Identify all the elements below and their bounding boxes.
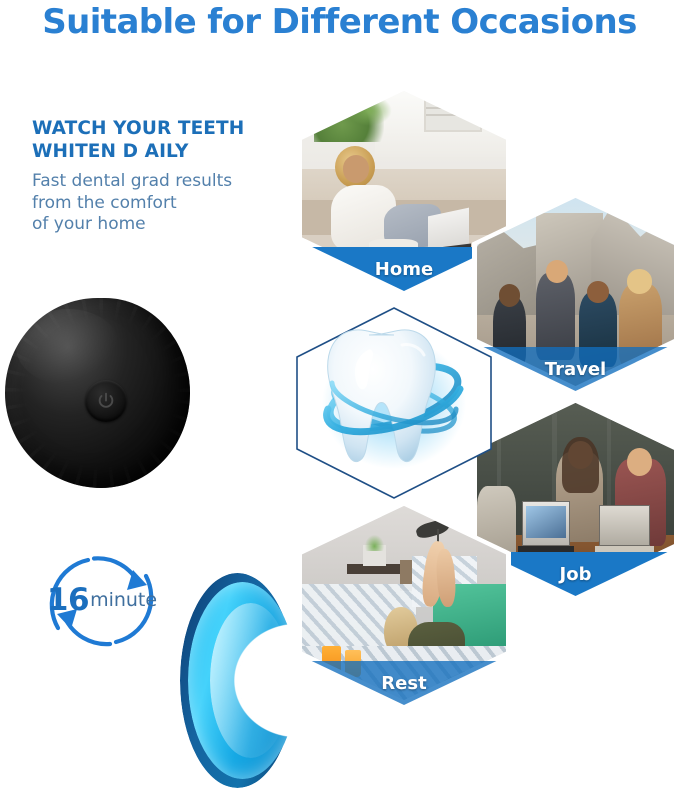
occasion-label-travel: Travel: [472, 347, 679, 391]
occasion-label-rest: Rest: [297, 661, 511, 705]
center-tooth-tile: [292, 305, 496, 501]
tooth-icon: [292, 305, 496, 501]
